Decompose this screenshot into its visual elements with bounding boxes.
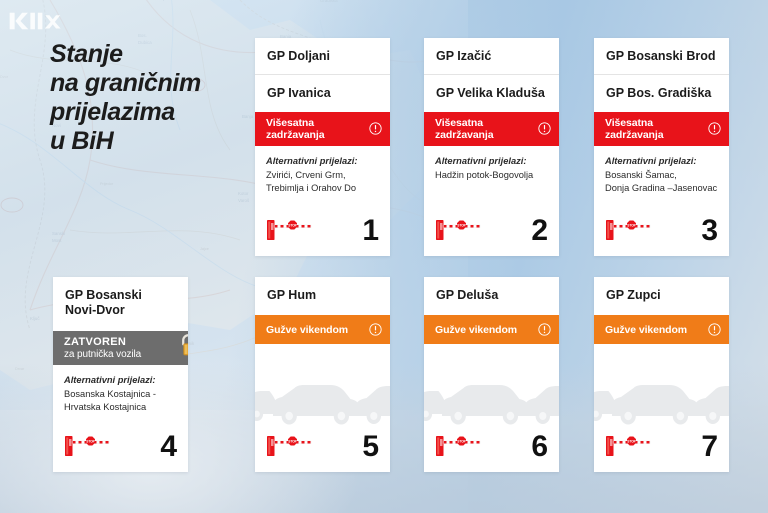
card-number: 2	[531, 216, 547, 246]
border-barrier-icon: STOP	[435, 216, 487, 247]
svg-text:STOP: STOP	[627, 223, 636, 227]
alternatives-heading: Alternativni prijelazi:	[605, 155, 718, 168]
status-banner-busy: Gužve vikendom	[255, 315, 390, 344]
title-line-3: prijelazima	[50, 98, 250, 127]
alternative-line: Zvirići, Crveni Grm,	[266, 169, 379, 182]
status-label: Višesatna zadržavanja	[266, 117, 369, 141]
cars-silhouette-icon	[255, 370, 390, 428]
status-banner-delay: Višesatna zadržavanja	[594, 112, 729, 146]
border-barrier-icon: STOP	[266, 432, 318, 463]
crossing-name-2: GP Bos. Gradiška	[594, 75, 729, 111]
alternative-line: Bosanska Kostajnica -	[64, 388, 177, 401]
crossing-name-2: GP Velika Kladuša	[424, 75, 559, 111]
border-barrier-icon: STOP	[435, 432, 487, 463]
crossing-card-4[interactable]: GP Bosanski Novi-DvorZATVORENza putnička…	[53, 277, 188, 472]
crossing-card-7[interactable]: GP ZupciGužve vikendomSTOP7	[594, 277, 729, 472]
card-footer: STOP1	[255, 210, 390, 256]
status-banner-closed: ZATVORENza putnička vozila	[53, 331, 188, 365]
crossing-card-3[interactable]: GP Bosanski BrodGP Bos. GradiškaVišesatn…	[594, 38, 729, 256]
card-number: 7	[701, 432, 717, 462]
crossing-card-2[interactable]: GP IzačićGP Velika KladušaVišesatna zadr…	[424, 38, 559, 256]
crossing-name-1: GP Bosanski Novi-Dvor	[53, 277, 188, 331]
crossing-card-6[interactable]: GP DelušaGužve vikendomSTOP6	[424, 277, 559, 472]
alternatives-heading: Alternativni prijelazi:	[64, 374, 177, 387]
crossing-name-1: GP Doljani	[255, 38, 390, 75]
card-number: 1	[362, 216, 378, 246]
status-label: Gužve vikendom	[605, 324, 687, 336]
status-label: Višesatna zadržavanja	[435, 117, 538, 141]
status-label: Gužve vikendom	[266, 324, 348, 336]
crossing-name-1: GP Bosanski Brod	[594, 38, 729, 75]
status-sublabel: za putnička vozila	[64, 349, 141, 360]
cars-silhouette-icon	[594, 370, 729, 428]
alternative-line: Hadžin potok-Bogovolja	[435, 169, 548, 182]
card-number: 3	[701, 216, 717, 246]
crossing-name-1: GP Izačić	[424, 38, 559, 75]
alternatives-block: Alternativni prijelazi:Bosanski Šamac,Do…	[594, 146, 729, 196]
cars-silhouette-icon	[424, 370, 559, 428]
crossing-name-1: GP Zupci	[594, 277, 729, 315]
status-banner-delay: Višesatna zadržavanja	[424, 112, 559, 146]
border-barrier-icon: STOP	[266, 216, 318, 247]
status-label: ZATVOREN	[64, 336, 141, 348]
card-number: 4	[160, 432, 176, 462]
status-banner-busy: Gužve vikendom	[594, 315, 729, 344]
alternatives-block: Alternativni prijelazi:Hadžin potok-Bogo…	[424, 146, 559, 182]
alternatives-block: Alternativni prijelazi:Bosanska Kostajni…	[53, 365, 188, 415]
crossing-name-1: GP Hum	[255, 277, 390, 315]
card-number: 6	[531, 432, 547, 462]
border-barrier-icon: STOP	[64, 432, 116, 463]
card-footer: STOP2	[424, 210, 559, 256]
crossing-card-1[interactable]: GP DoljaniGP IvanicaVišesatna zadržavanj…	[255, 38, 390, 256]
title-line-1: Stanje	[50, 40, 250, 69]
alternatives-block: Alternativni prijelazi:Zvirići, Crveni G…	[255, 146, 390, 196]
card-footer: STOP5	[255, 426, 390, 472]
alternative-line: Trebimlja i Orahov Do	[266, 182, 379, 195]
status-banner-busy: Gužve vikendom	[424, 315, 559, 344]
svg-text:STOP: STOP	[288, 439, 297, 443]
page-title: Stanje na graničnim prijelazima u BiH	[50, 40, 250, 156]
alternative-line: Donja Gradina –Jasenovac	[605, 182, 718, 195]
klix-logo	[8, 8, 66, 34]
alternatives-heading: Alternativni prijelazi:	[266, 155, 379, 168]
svg-text:STOP: STOP	[627, 439, 636, 443]
infographic-canvas: Prijedor BanjaLuka Bos.Dubica Gradiška B…	[0, 0, 768, 513]
status-banner-delay: Višesatna zadržavanja	[255, 112, 390, 146]
alternative-line: Bosanski Šamac,	[605, 169, 718, 182]
svg-text:STOP: STOP	[457, 439, 466, 443]
title-line-2: na graničnim	[50, 69, 250, 98]
card-footer: STOP6	[424, 426, 559, 472]
card-footer: STOP3	[594, 210, 729, 256]
status-label: Gužve vikendom	[435, 324, 517, 336]
card-footer: STOP7	[594, 426, 729, 472]
crossing-name-1: GP Deluša	[424, 277, 559, 315]
svg-text:STOP: STOP	[457, 223, 466, 227]
alternative-line: Hrvatska Kostajnica	[64, 401, 177, 414]
crossing-card-5[interactable]: GP HumGužve vikendomSTOP5	[255, 277, 390, 472]
alternatives-heading: Alternativni prijelazi:	[435, 155, 548, 168]
status-label: Višesatna zadržavanja	[605, 117, 708, 141]
svg-text:STOP: STOP	[86, 439, 95, 443]
card-footer: STOP4	[53, 426, 188, 472]
status-text-group: ZATVORENza putnička vozila	[64, 336, 141, 360]
title-line-4: u BiH	[50, 127, 250, 156]
border-barrier-icon: STOP	[605, 432, 657, 463]
border-barrier-icon: STOP	[605, 216, 657, 247]
svg-text:STOP: STOP	[288, 223, 297, 227]
crossing-name-2: GP Ivanica	[255, 75, 390, 111]
card-number: 5	[362, 432, 378, 462]
